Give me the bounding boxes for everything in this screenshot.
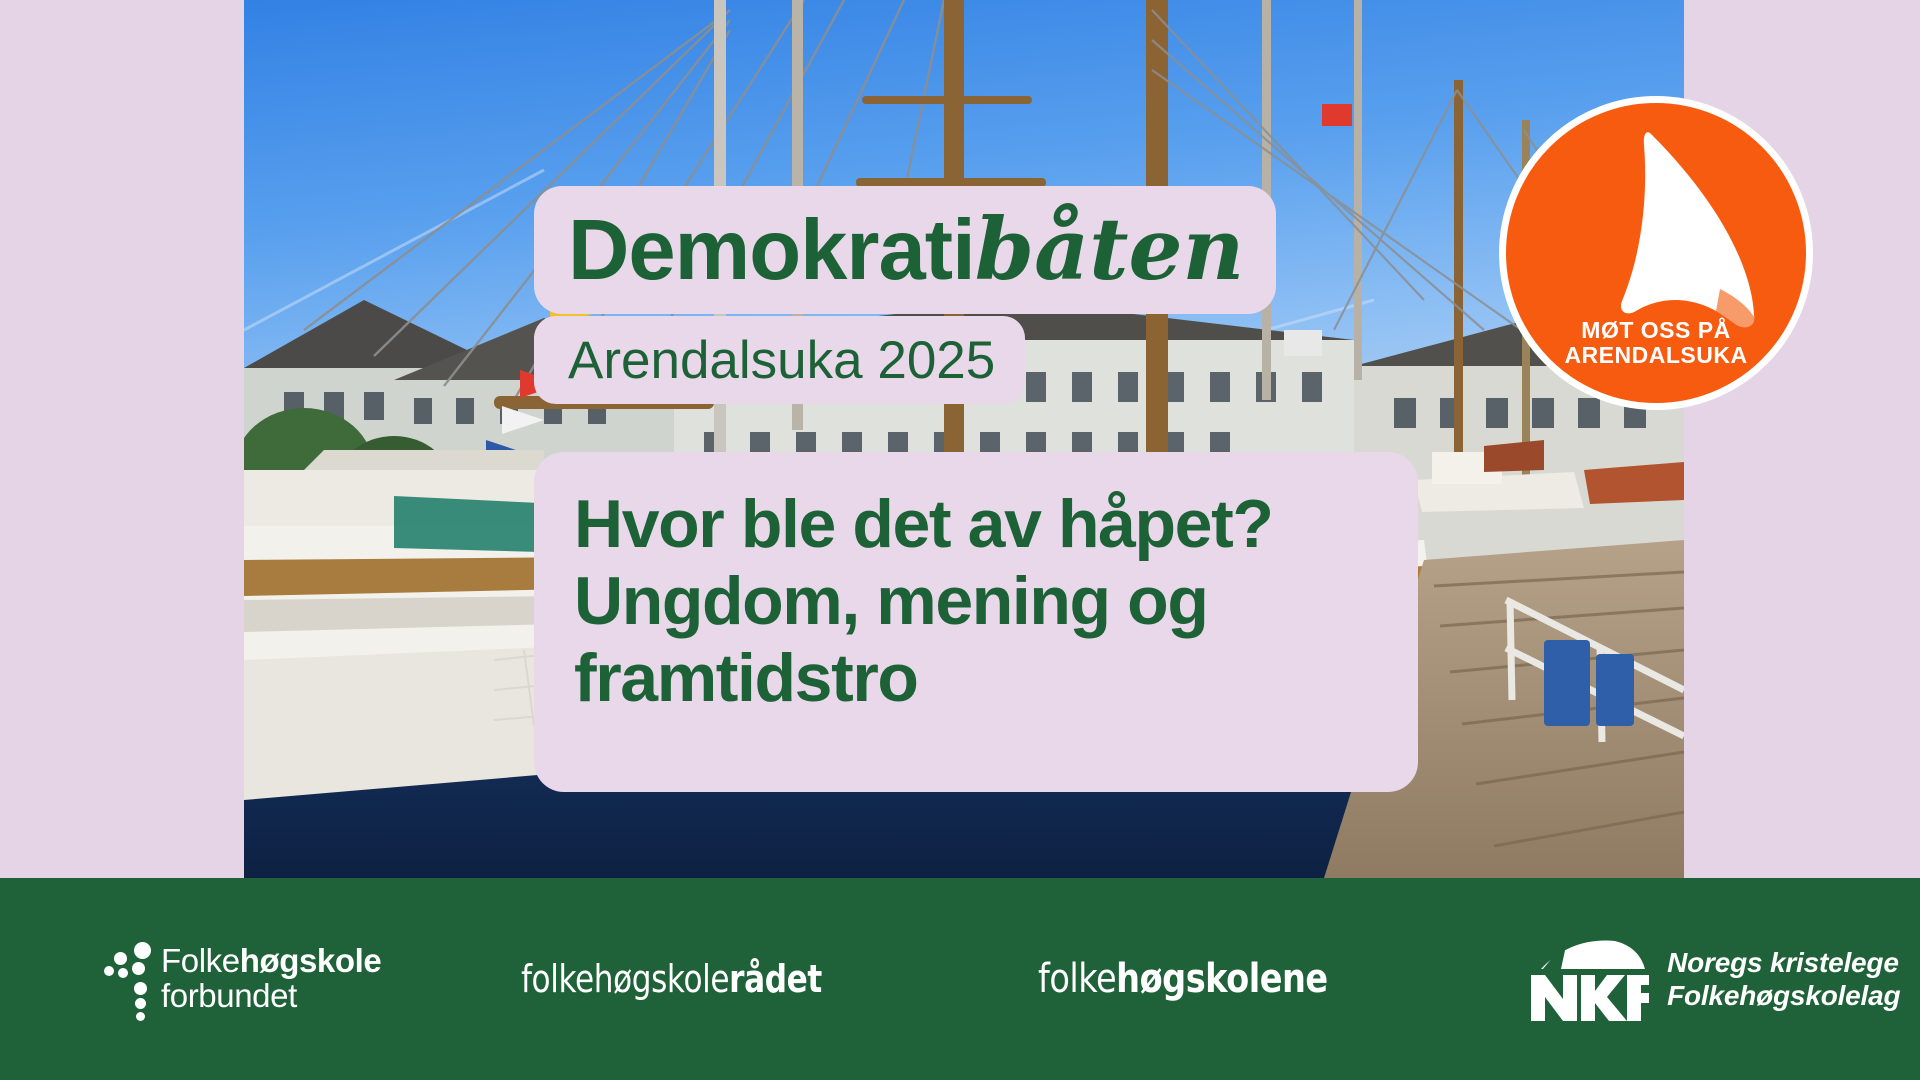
poster-root: MØT OSS PÅ ARENDALSUKA Demokratibåten Ar… bbox=[0, 0, 1920, 1080]
logo-folkehogskolene-text: folkehøgskolene bbox=[1038, 956, 1328, 1002]
poster-subtitle: Arendalsuka 2025 bbox=[568, 334, 995, 387]
logo-folkehogskoleforbundet: Folkehøgskole forbundet bbox=[104, 942, 381, 1016]
dot-cluster-icon bbox=[104, 942, 150, 1016]
poster-title: Demokratibåten bbox=[568, 208, 1244, 293]
badge-line-2: ARENDALSUKA bbox=[1506, 343, 1806, 369]
logo-folkehogskoleforbundet-text: Folkehøgskole forbundet bbox=[161, 944, 381, 1014]
nkf-line-1: Noregs kristelege bbox=[1667, 946, 1900, 979]
logo-folkehogskoleradet-text: folkehøgskolerådet bbox=[521, 957, 822, 1001]
logo-thin-part: folke bbox=[1038, 956, 1116, 1002]
logo-line-1-light: Folke bbox=[161, 942, 240, 979]
title-card: Demokratibåten bbox=[534, 186, 1276, 314]
nkf-text: Noregs kristelege Folkehøgskolelag bbox=[1667, 946, 1900, 1012]
headline-line-2: Ungdom, mening og bbox=[574, 563, 1272, 640]
arendalsuka-badge[interactable]: MØT OSS PÅ ARENDALSUKA bbox=[1499, 96, 1813, 410]
nkf-line-2: Folkehøgskolelag bbox=[1667, 979, 1900, 1012]
logo-thick-part: høgskolene bbox=[1116, 956, 1328, 1002]
badge-line-1: MØT OSS PÅ bbox=[1506, 318, 1806, 344]
headline-line-1: Hvor ble det av håpet? bbox=[574, 486, 1272, 563]
logo-nkf: Noregs kristelege Folkehøgskolelag bbox=[1531, 935, 1900, 1023]
title-italic-part: båten bbox=[975, 200, 1245, 300]
subtitle-card: Arendalsuka 2025 bbox=[534, 316, 1025, 404]
footer-logo-bar: Folkehøgskole forbundet folkehøgskoleråd… bbox=[0, 878, 1920, 1080]
nkf-mark-icon bbox=[1531, 935, 1649, 1023]
headline-card: Hvor ble det av håpet? Ungdom, mening og… bbox=[534, 452, 1418, 792]
logo-line-2: forbundet bbox=[161, 979, 381, 1014]
badge-text: MØT OSS PÅ ARENDALSUKA bbox=[1506, 318, 1806, 370]
logo-line-1: Folkehøgskole bbox=[161, 944, 381, 979]
logo-folkehogskolene: folkehøgskolene bbox=[1038, 956, 1383, 1002]
logo-line-1-bold: høgskole bbox=[240, 942, 382, 979]
headline-line-3: framtidstro bbox=[574, 640, 1272, 717]
title-bold-part: Demokrati bbox=[568, 203, 975, 298]
logo-thin-part: folkehøgskole bbox=[521, 957, 729, 1001]
logo-thick-part: rådet bbox=[730, 957, 823, 1001]
poster-headline: Hvor ble det av håpet? Ungdom, mening og… bbox=[574, 486, 1272, 716]
logo-folkehogskoleradet: folkehøgskolerådet bbox=[521, 957, 888, 1001]
